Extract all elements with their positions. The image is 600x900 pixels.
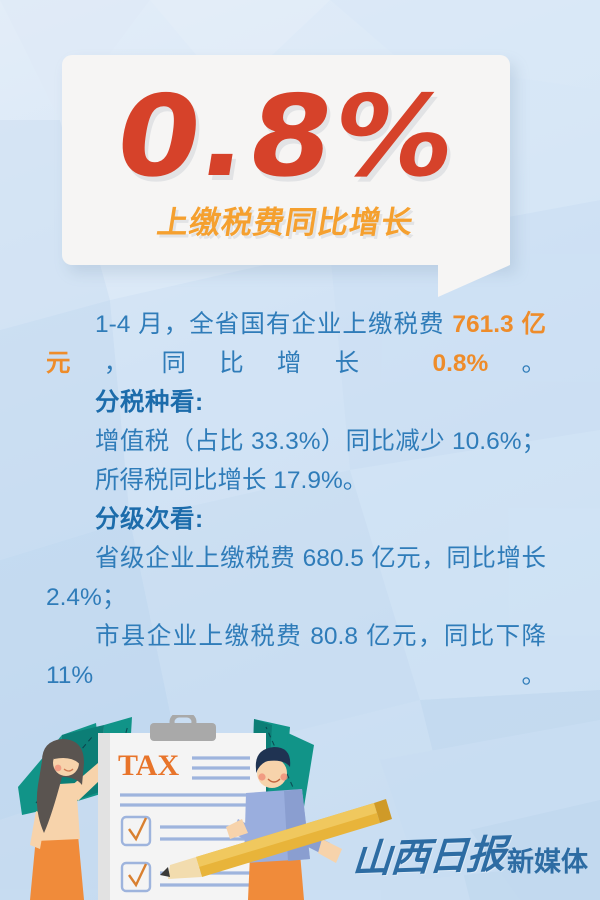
paragraph-city-county: 市县企业上缴税费 80.8 亿元，同比下降 11%。 — [46, 617, 546, 695]
man-blush — [258, 773, 265, 780]
paragraph-vat: 增值税（占比 33.3%）同比减少 10.6%； — [46, 422, 546, 461]
man-blush-2 — [280, 773, 287, 780]
clipboard-title: TAX — [118, 749, 179, 782]
hero-subtitle: 上缴税费同比增长 — [154, 197, 417, 242]
paragraph-provincial: 省级企业上缴税费 680.5 亿元，同比增长 2.4%； — [46, 539, 546, 617]
section-heading-by-level: 分级次看: — [46, 500, 546, 539]
lead-growth: 0.8% — [432, 350, 488, 377]
lead-paragraph: 1-4 月，全省国有企业上缴税费 761.3 亿元，同比增长 0.8%。 — [46, 305, 546, 383]
hero-content: 0.8% 上缴税费同比增长 — [62, 55, 510, 265]
man-hand-back — [318, 839, 342, 863]
clipboard-paper-edge — [98, 733, 110, 900]
lead-seg-4: 。 — [488, 350, 546, 377]
publisher-logo: 山西日报 新媒体 — [353, 826, 588, 882]
lead-seg-2: ，同比增长 — [104, 350, 433, 377]
clipboard-clip — [150, 723, 216, 741]
clipboard-clip-ring — [172, 715, 194, 729]
logo-suffix: 新媒体 — [507, 840, 588, 882]
woman-blush — [55, 765, 62, 772]
hero-figure: 0.8% — [109, 84, 464, 192]
logo-brand: 山西日报 — [351, 823, 507, 884]
body-copy: 1-4 月，全省国有企业上缴税费 761.3 亿元，同比增长 0.8%。 分税种… — [0, 305, 600, 695]
lead-seg-0: 1-4 月，全省国有企业上缴税费 — [95, 311, 452, 338]
paragraph-income-tax: 所得税同比增长 17.9%。 — [46, 461, 546, 500]
section-heading-by-tax-type: 分税种看: — [46, 383, 546, 422]
